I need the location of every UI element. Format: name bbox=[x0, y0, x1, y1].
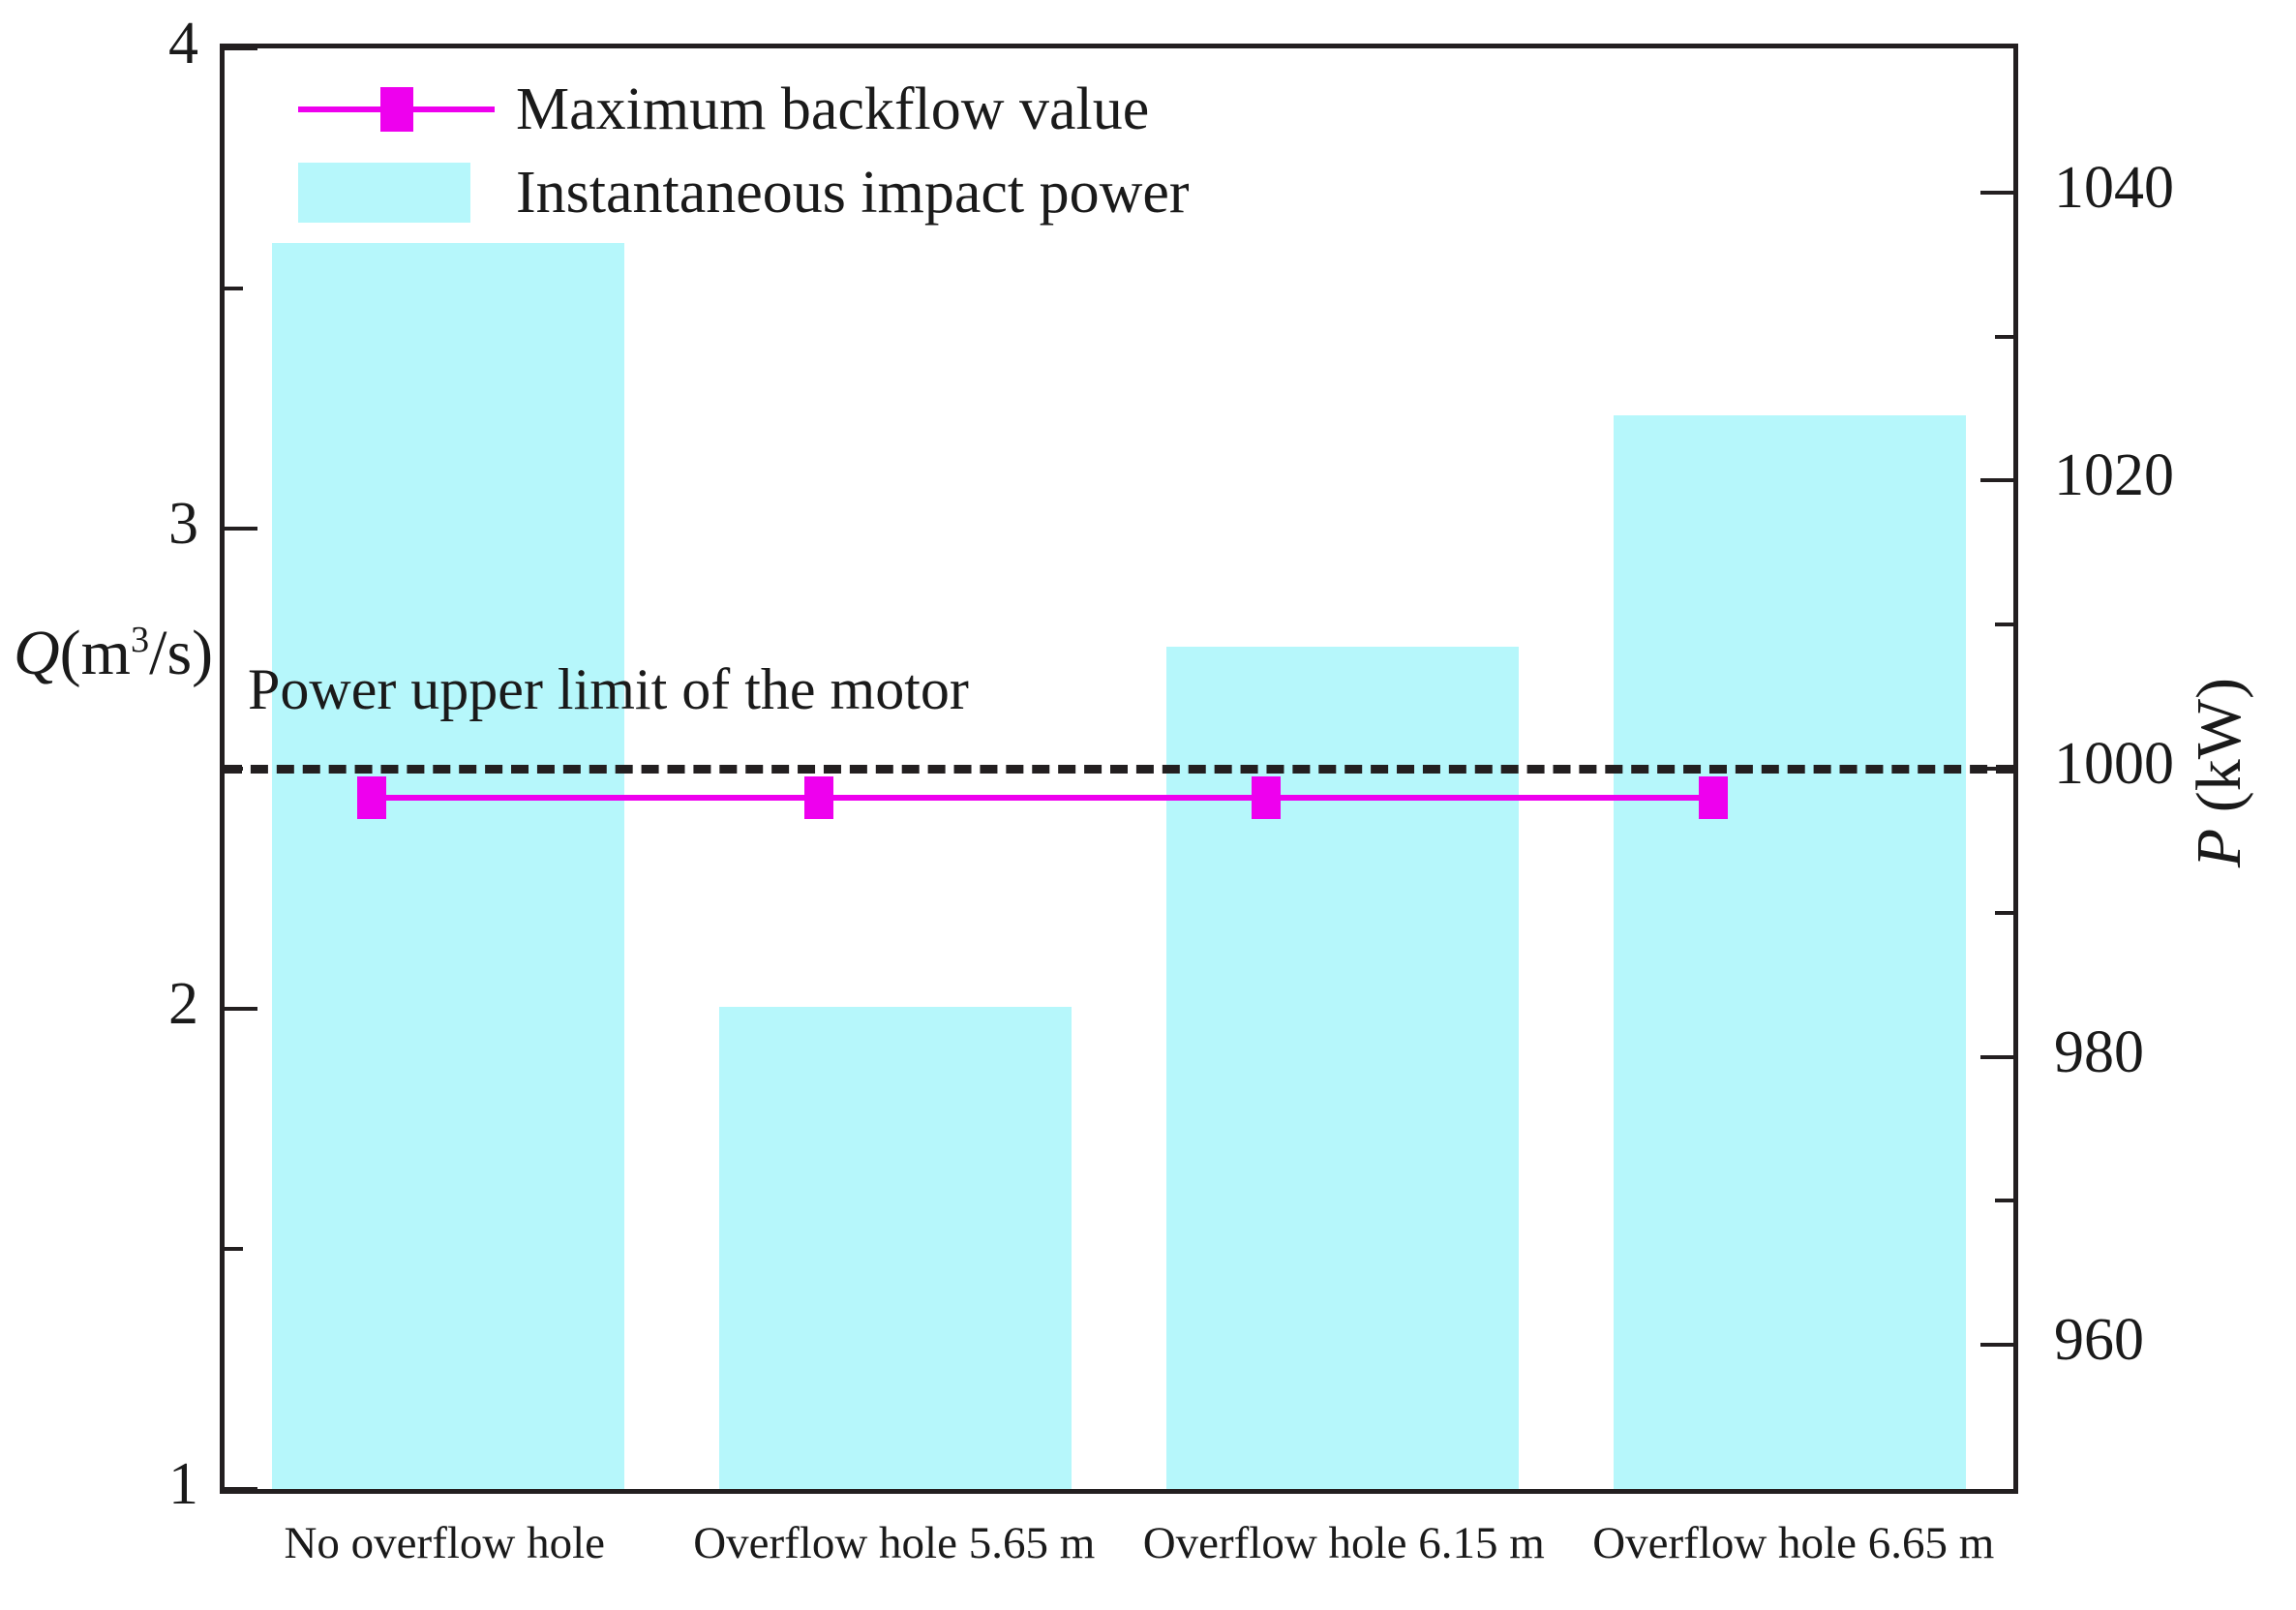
right-axis-unit: (kW) bbox=[2184, 678, 2254, 812]
series-marker-3[interactable] bbox=[1699, 776, 1728, 819]
left-tick-label-0: 4 bbox=[82, 14, 198, 74]
right-tick-label-4: 960 bbox=[2054, 1310, 2144, 1370]
left-axis-title: Q(m3/s) bbox=[14, 620, 139, 686]
right-tick-minor-1010 bbox=[1995, 623, 2013, 626]
power-upper-limit-line bbox=[225, 765, 2013, 774]
right-tick-major-960 bbox=[1980, 1343, 2013, 1347]
legend-key-line-square-icon bbox=[292, 80, 500, 138]
legend-key-bar-icon bbox=[292, 164, 500, 222]
series-marker-0[interactable] bbox=[357, 776, 386, 819]
right-tick-major-1040 bbox=[1980, 191, 2013, 195]
legend-entry-maximum-backflow-value[interactable]: Maximum backflow value bbox=[292, 68, 1190, 151]
left-tick-label-3: 1 bbox=[82, 1454, 198, 1514]
left-tick-major-1 bbox=[225, 1487, 257, 1491]
left-tick-label-2: 2 bbox=[82, 974, 198, 1034]
right-tick-major-1020 bbox=[1980, 478, 2013, 482]
series-marker-1[interactable] bbox=[804, 776, 833, 819]
series-marker-2[interactable] bbox=[1252, 776, 1281, 819]
right-tick-label-1: 1020 bbox=[2054, 445, 2174, 505]
bar-overflow-hole-665[interactable] bbox=[1614, 415, 1967, 1489]
category-label-2: Overflow hole 6.15 m bbox=[1119, 1512, 1569, 1590]
category-label-3: Overflow hole 6.65 m bbox=[1569, 1512, 2019, 1590]
plot-area: Power upper limit of the motor Maximum b… bbox=[220, 44, 2018, 1494]
left-axis-unit-suffix: /s) bbox=[149, 618, 213, 688]
left-tick-minor-1p5 bbox=[225, 1247, 243, 1251]
bar-no-overflow-hole[interactable] bbox=[272, 243, 625, 1489]
left-tick-major-4 bbox=[225, 46, 257, 50]
bar-overflow-hole-565[interactable] bbox=[719, 1007, 1072, 1489]
left-axis-unit-prefix: (m bbox=[60, 618, 131, 688]
right-tick-label-3: 980 bbox=[2054, 1022, 2144, 1082]
left-tick-major-3 bbox=[225, 527, 257, 531]
right-tick-label-2: 1000 bbox=[2054, 734, 2174, 794]
power-upper-limit-label: Power upper limit of the motor bbox=[248, 660, 969, 718]
right-axis-title: P (kW) bbox=[2186, 678, 2273, 867]
legend-entry-instantaneous-impact-power[interactable]: Instantaneous impact power bbox=[292, 151, 1190, 234]
right-tick-minor-1030 bbox=[1995, 335, 2013, 339]
maximum-backflow-line[interactable] bbox=[372, 795, 1713, 801]
left-tick-label-1: 3 bbox=[82, 494, 198, 554]
category-label-0: No overflow hole bbox=[220, 1512, 670, 1590]
left-tick-minor-3p5 bbox=[225, 287, 243, 290]
right-tick-minor-970 bbox=[1995, 1199, 2013, 1202]
right-axis-symbol: P bbox=[2184, 829, 2254, 867]
right-tick-minor-990 bbox=[1995, 911, 2013, 915]
category-label-1: Overflow hole 5.65 m bbox=[670, 1512, 1120, 1590]
right-tick-label-0: 1040 bbox=[2054, 158, 2174, 218]
legend-label-1: Instantaneous impact power bbox=[516, 163, 1190, 223]
right-tick-major-980 bbox=[1980, 1055, 2013, 1059]
category-axis-labels: No overflow hole Overflow hole 5.65 m Ov… bbox=[220, 1512, 2018, 1590]
legend: Maximum backflow value Instantaneous imp… bbox=[292, 68, 1190, 234]
left-axis-symbol: Q bbox=[14, 618, 60, 688]
legend-label-0: Maximum backflow value bbox=[516, 79, 1149, 139]
left-tick-major-2 bbox=[225, 1007, 257, 1011]
left-axis-unit-exponent: 3 bbox=[131, 620, 149, 660]
